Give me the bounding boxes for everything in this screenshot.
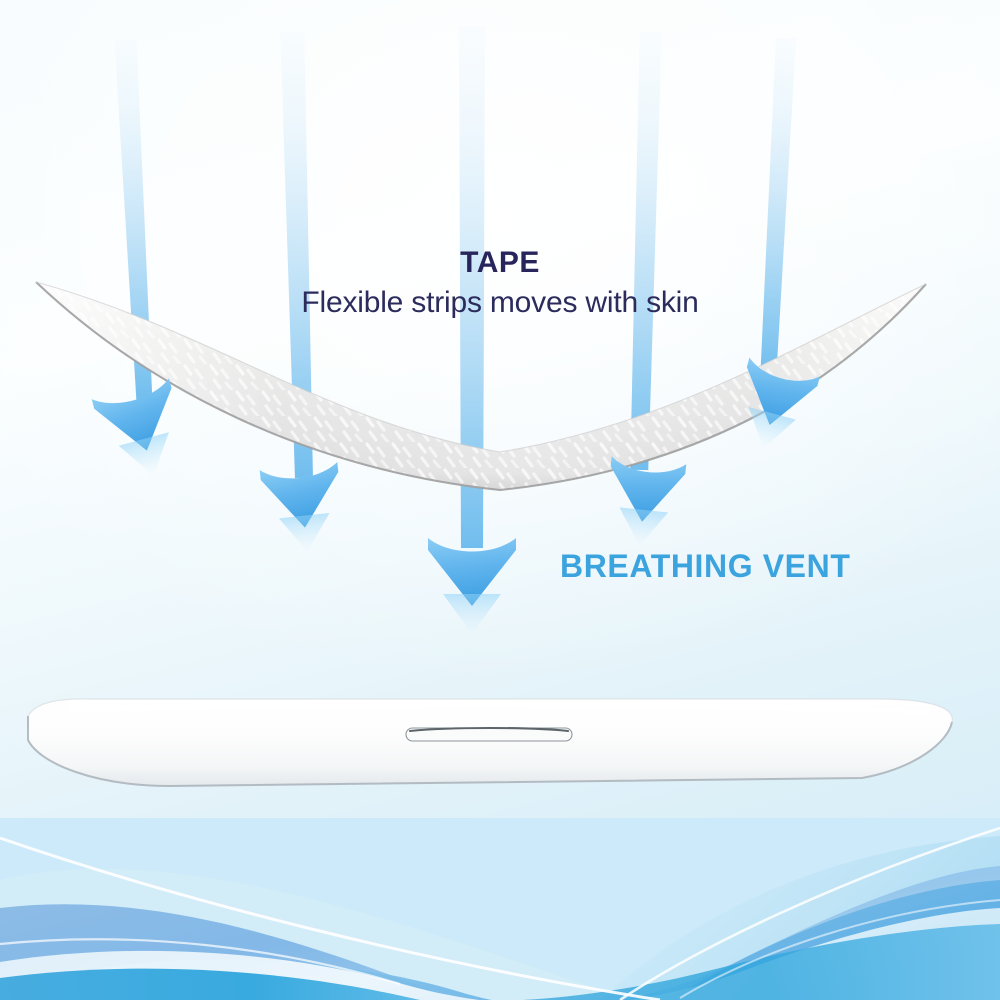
infographic-canvas: TAPE Flexible strips moves with skin BRE… — [0, 0, 1000, 1000]
breathing-vent-slot — [406, 728, 572, 741]
airflow-arrow-5-shaft — [758, 38, 796, 375]
flat-nasal-strip — [28, 699, 952, 786]
bottom-wave-band — [0, 818, 1000, 1000]
airflow-arrow-4-head — [603, 456, 687, 549]
airflow-arrow-4-shaft — [628, 32, 661, 470]
artwork-layer — [0, 0, 1000, 1000]
airflow-arrow-3-head — [428, 538, 516, 634]
strip-body — [28, 699, 952, 786]
